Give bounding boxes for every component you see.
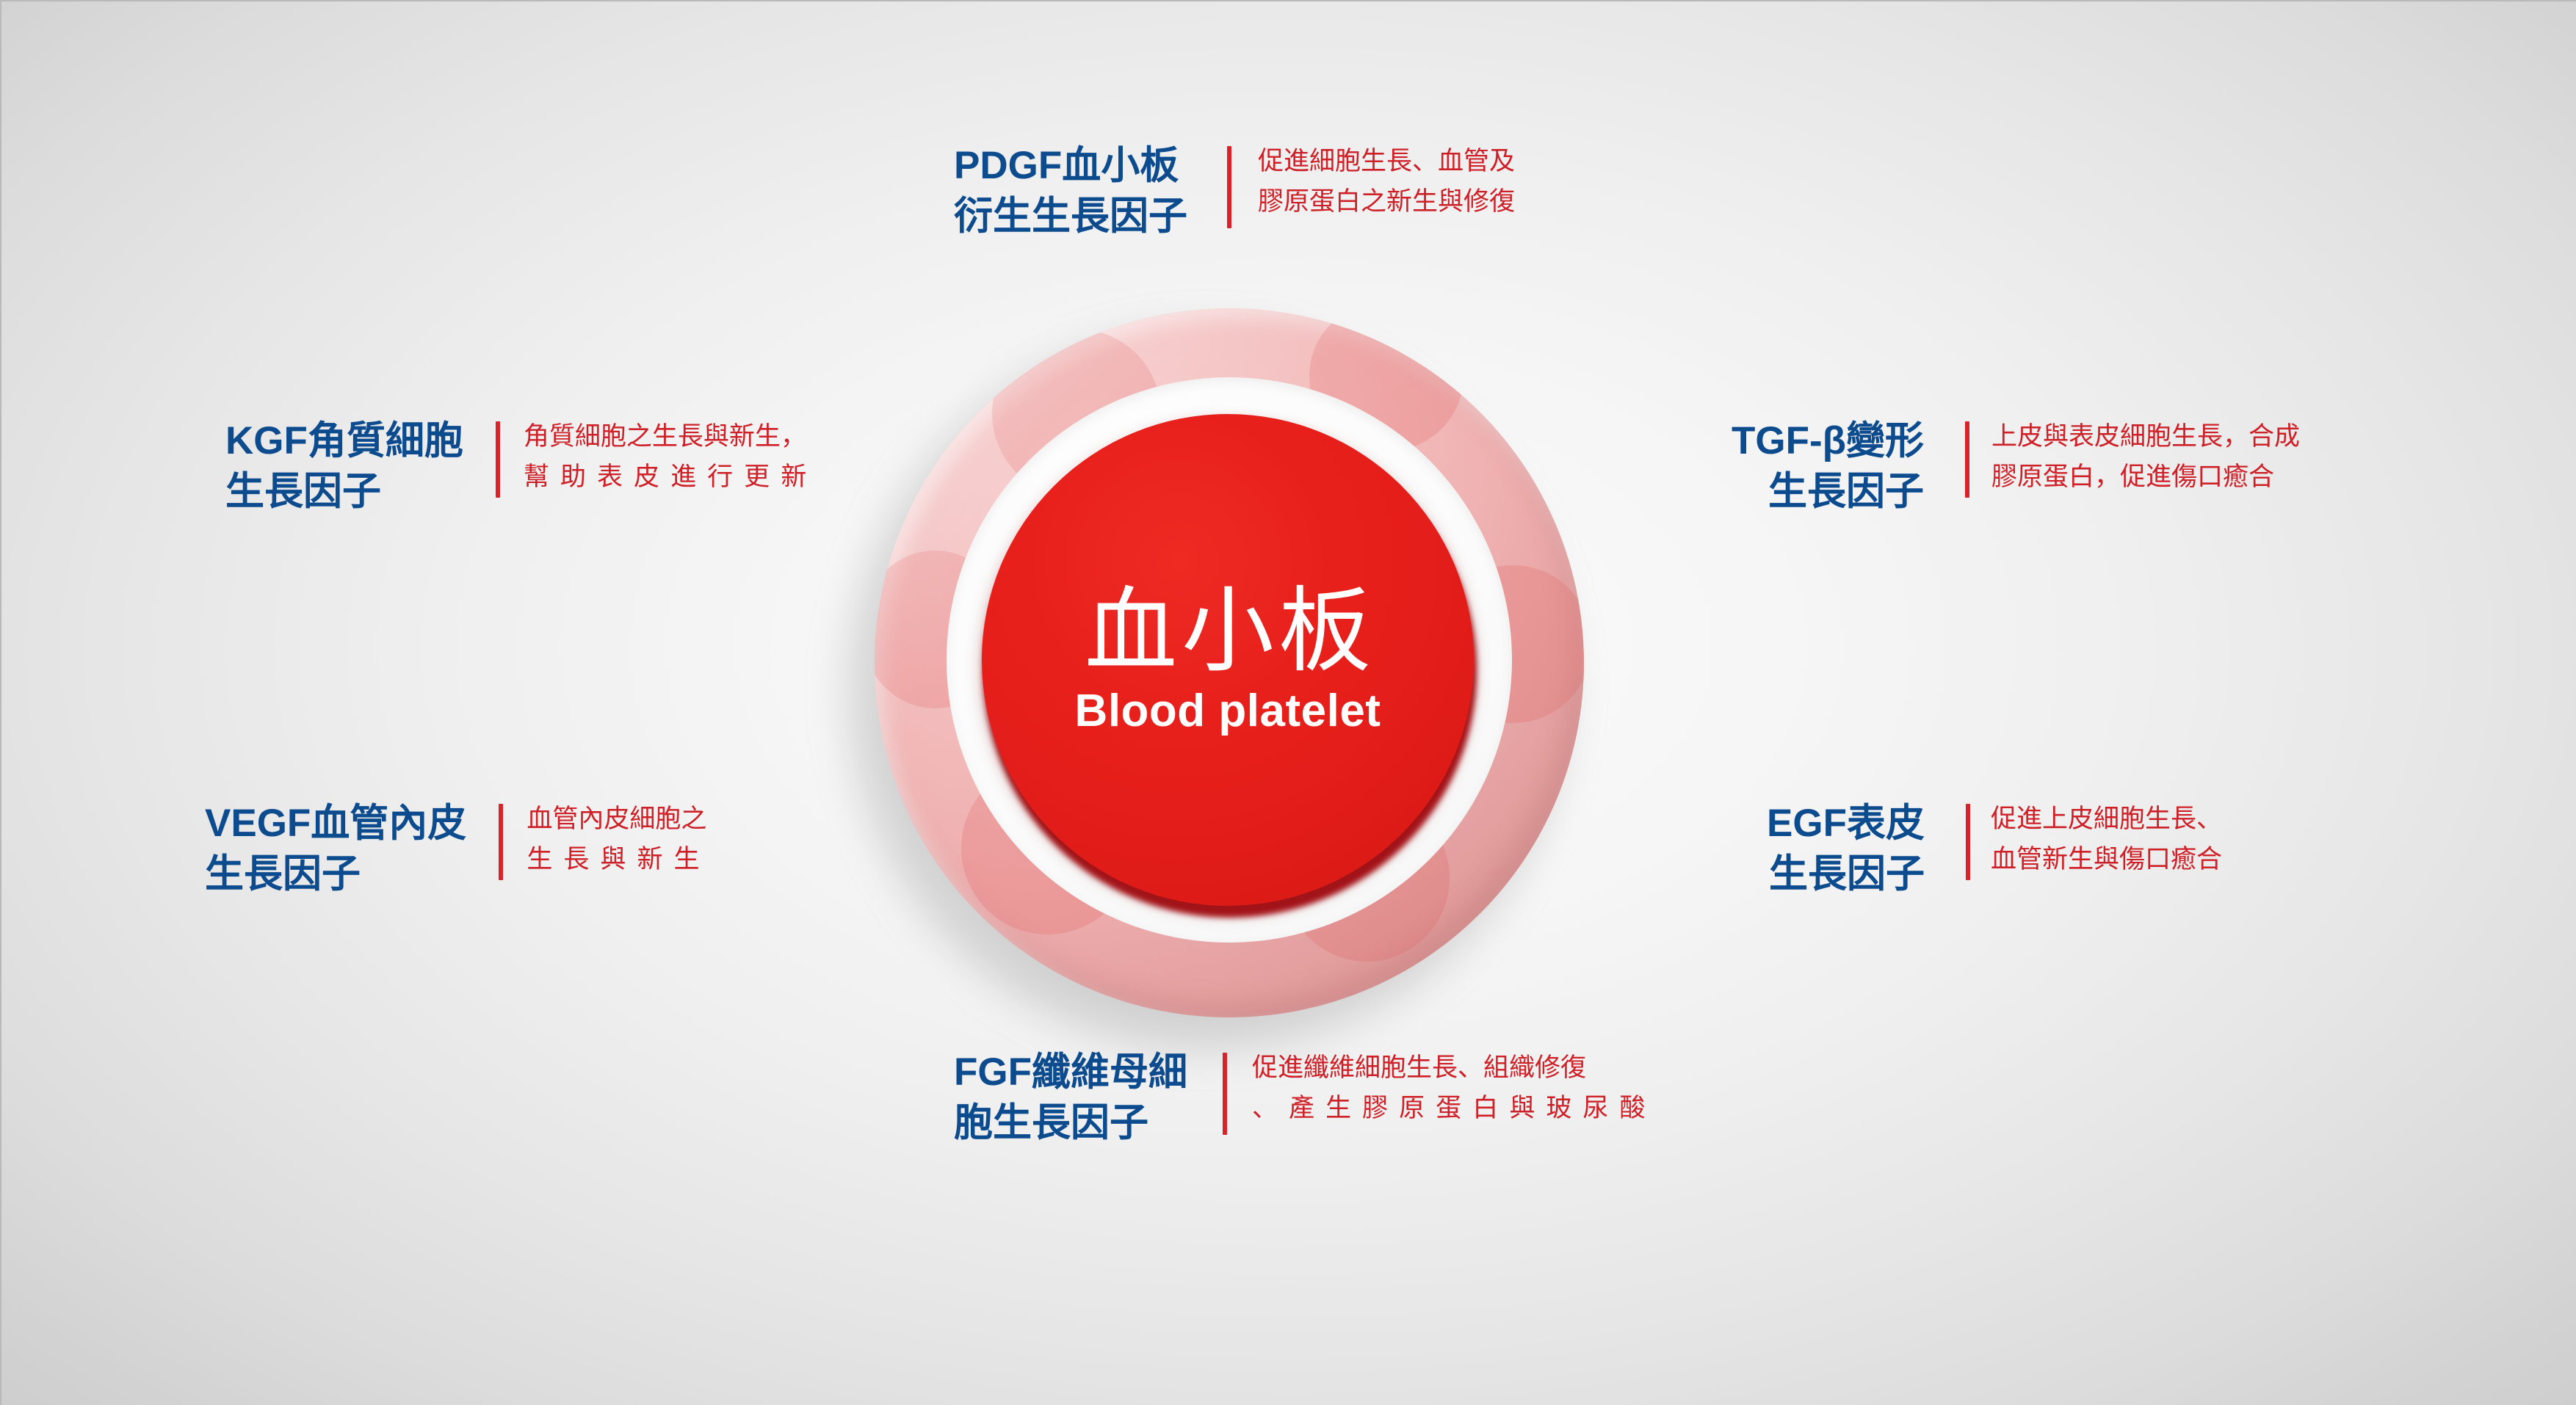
factor-description-vegf: 血管內皮細胞之 生長與新生 [527,799,710,880]
factor-title-fgf: FGF纖維母細 胞生長因子 [954,1048,1187,1149]
factor-block-tgf-beta: TGF-β變形 生長因子 上皮與表皮細胞生長，合成 膠原蛋白，促進傷口癒合 [1682,416,2300,518]
divider-tgf-beta [1965,421,1969,498]
description-line-2: 膠原蛋白，促進傷口癒合 [1991,457,2300,497]
center-label-chinese: 血小板 [1085,583,1375,680]
inner-red-disc: 血小板 Blood platelet [982,414,1474,906]
factor-description-pdgf: 促進細胞生長、血管及 膠原蛋白之新生與修復 [1258,141,1515,222]
center-label-english: Blood platelet [1075,685,1381,737]
description-line-2: 、產生膠原蛋白與玻尿酸 [1252,1088,1657,1128]
description-line-1: 促進上皮細胞生長、 [1991,799,2222,839]
factor-block-pdgf: PDGF血小板 衍生生長因子 促進細胞生長、血管及 膠原蛋白之新生與修復 [954,141,1515,242]
description-line-1: 角質細胞之生長與新生， [524,416,817,457]
description-line-2: 膠原蛋白之新生與修復 [1258,181,1515,222]
platelet-circle-graphic: 血小板 Blood platelet [854,295,1603,1044]
factor-title-vegf: VEGF血管內皮 生長因子 [205,799,466,900]
divider-egf [1966,804,1970,880]
description-line-1: 上皮與表皮細胞生長，合成 [1991,416,2300,457]
factor-block-kgf: KGF角質細胞 生長因子 角質細胞之生長與新生， 幫助表皮進行更新 [225,416,817,518]
divider-pdgf [1227,146,1231,228]
description-line-1: 血管內皮細胞之 [527,799,710,839]
divider-fgf [1223,1053,1227,1135]
factor-block-egf: EGF表皮 生長因子 促進上皮細胞生長、 血管新生與傷口癒合 [1740,799,2222,900]
factor-description-tgf-beta: 上皮與表皮細胞生長，合成 膠原蛋白，促進傷口癒合 [1991,416,2300,498]
factor-title-pdgf: PDGF血小板 衍生生長因子 [954,141,1187,242]
divider-vegf [499,804,503,880]
factor-block-vegf: VEGF血管內皮 生長因子 血管內皮細胞之 生長與新生 [205,799,711,900]
description-line-2: 幫助表皮進行更新 [524,457,817,497]
description-line-1: 促進纖維細胞生長、組織修復 [1252,1048,1657,1088]
description-line-2: 血管新生與傷口癒合 [1991,839,2222,879]
factor-description-kgf: 角質細胞之生長與新生， 幫助表皮進行更新 [524,416,817,498]
factor-block-fgf: FGF纖維母細 胞生長因子 促進纖維細胞生長、組織修復 、產生膠原蛋白與玻尿酸 [954,1048,1657,1149]
factor-title-tgf-beta: TGF-β變形 生長因子 [1682,416,1924,518]
factor-description-egf: 促進上皮細胞生長、 血管新生與傷口癒合 [1991,799,2222,880]
factor-title-egf: EGF表皮 生長因子 [1740,799,1925,900]
description-line-1: 促進細胞生長、血管及 [1258,141,1515,181]
description-line-2: 生長與新生 [527,839,710,879]
divider-kgf [496,421,500,498]
factor-description-fgf: 促進纖維細胞生長、組織修復 、產生膠原蛋白與玻尿酸 [1252,1048,1657,1129]
infographic-canvas: 血小板 Blood platelet PDGF血小板 衍生生長因子 促進細胞生長… [0,0,2576,1405]
factor-title-kgf: KGF角質細胞 生長因子 [225,416,463,518]
